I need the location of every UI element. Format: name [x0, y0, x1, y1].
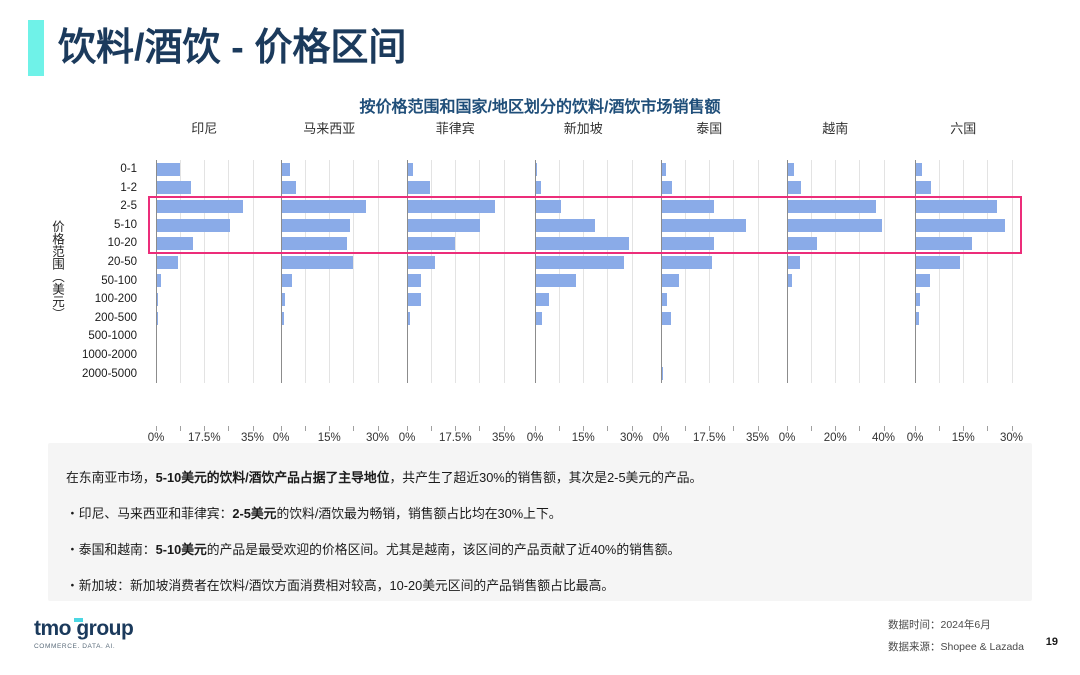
bar-row: [407, 234, 508, 253]
bar[interactable]: [157, 312, 158, 325]
bar-row: [661, 365, 762, 384]
plot-region: [156, 160, 257, 383]
y-axis-tick-label: 0-1: [64, 160, 144, 179]
bar-row: [787, 253, 888, 272]
bar-row: [535, 216, 636, 235]
x-tick-mark: [963, 426, 964, 431]
bar-row: [535, 253, 636, 272]
bar[interactable]: [536, 181, 541, 194]
bar[interactable]: [408, 256, 435, 269]
bar-row: [787, 197, 888, 216]
x-tick-mark: [884, 426, 885, 431]
bar[interactable]: [536, 274, 576, 287]
data-source: 数据来源：Shopee & Lazada: [888, 636, 1024, 658]
bar-row: [407, 365, 508, 384]
bar-row: [535, 234, 636, 253]
chart-panel-菲律宾: 0%17.5%35%: [407, 160, 508, 383]
bar[interactable]: [536, 163, 537, 176]
insight-1-c: 的饮料/酒饮最为畅销，销售额占比均在30%上下。: [276, 506, 561, 521]
x-tick-mark: [253, 426, 254, 431]
bar-row: [915, 216, 1016, 235]
panel-header-5: 泰国: [641, 118, 778, 137]
chart-panel-泰国: 0%17.5%35%: [661, 160, 762, 383]
bar-row: [661, 179, 762, 198]
x-tick-mark: [407, 426, 408, 431]
bar-row: [156, 346, 257, 365]
bar-row: [407, 346, 508, 365]
bar-row: [281, 216, 382, 235]
data-time: 数据时间：2024年6月: [888, 614, 1024, 636]
bar-row: [661, 290, 762, 309]
bar-row: [915, 253, 1016, 272]
bar[interactable]: [916, 181, 931, 194]
bar-row: [156, 234, 257, 253]
x-tick-mark: [156, 426, 157, 431]
chart-panel-印尼: 0%17.5%35%: [156, 160, 257, 383]
bar-row: [535, 179, 636, 198]
bar[interactable]: [157, 237, 193, 250]
bar[interactable]: [788, 256, 800, 269]
bar[interactable]: [788, 274, 792, 287]
bar-row: [535, 272, 636, 291]
chart-title: 按价格范围和国家/地区划分的饮料/酒饮市场销售额: [0, 93, 1080, 117]
x-tick-mark: [939, 426, 940, 431]
logo-tagline: COMMERCE. DATA. AI.: [34, 643, 133, 650]
bar-row: [661, 197, 762, 216]
bar-row: [156, 160, 257, 179]
bar[interactable]: [157, 274, 161, 287]
bar-row: [407, 327, 508, 346]
x-tick-mark: [811, 426, 812, 431]
title-accent-bar: [28, 20, 44, 76]
panel-header-row: 印尼马来西亚菲律宾新加坡泰国越南六国: [0, 118, 1080, 142]
bar-row: [156, 253, 257, 272]
bar[interactable]: [157, 163, 180, 176]
bar-row: [915, 327, 1016, 346]
insight-line-0: 在东南亚市场，5-10美元的饮料/酒饮产品占据了主导地位，共产生了超近30%的销…: [66, 469, 702, 487]
y-axis-tick-label: 50-100: [64, 272, 144, 291]
x-tick-mark: [987, 426, 988, 431]
logo-text-group: group: [76, 617, 133, 640]
insight-line-3: ・新加坡：新加坡消费者在饮料/酒饮方面消费相对较高，10-20美元区间的产品销售…: [66, 577, 614, 595]
bar-row: [281, 327, 382, 346]
insight-1-a: ・印尼、马来西亚和菲律宾：: [66, 506, 232, 521]
bar-row: [915, 160, 1016, 179]
chart-panel-马来西亚: 0%15%30%: [281, 160, 382, 383]
bar-row: [915, 365, 1016, 384]
y-axis-tick-label: 1-2: [64, 179, 144, 198]
bar[interactable]: [408, 274, 421, 287]
plot-region: [915, 160, 1016, 383]
bar-row: [535, 309, 636, 328]
x-tick-mark: [281, 426, 282, 431]
insight-line-1: ・印尼、马来西亚和菲律宾：2-5美元的饮料/酒饮最为畅销，销售额占比均在30%上…: [66, 505, 562, 523]
bar[interactable]: [916, 293, 920, 306]
bar-row: [407, 179, 508, 198]
x-tick-mark: [583, 426, 584, 431]
panel-header-4: 新加坡: [515, 118, 652, 137]
y-axis-tick-label: 500-1000: [64, 327, 144, 346]
bar-row: [787, 309, 888, 328]
bar[interactable]: [157, 200, 243, 213]
bar[interactable]: [408, 219, 480, 232]
plot-region: [281, 160, 382, 383]
y-axis-tick-label: 200-500: [64, 309, 144, 328]
bar-row: [787, 160, 888, 179]
insight-2-c: 的产品是最受欢迎的价格区间。尤其是越南，该区间的产品贡献了近40%的销售额。: [207, 542, 681, 557]
insight-2-a: ・泰国和越南：: [66, 542, 156, 557]
bar[interactable]: [788, 200, 876, 213]
bar-row: [661, 309, 762, 328]
x-tick-mark: [787, 426, 788, 431]
bar[interactable]: [282, 256, 353, 269]
bar[interactable]: [282, 274, 292, 287]
bar-row: [661, 272, 762, 291]
x-tick-mark: [835, 426, 836, 431]
bar[interactable]: [408, 181, 430, 194]
bar-row: [407, 160, 508, 179]
bar-row: [156, 272, 257, 291]
bar-row: [156, 290, 257, 309]
bar[interactable]: [662, 312, 671, 325]
panel-header-7: 六国: [895, 118, 1032, 137]
logo-accent-dot: [74, 618, 83, 622]
bar[interactable]: [788, 163, 794, 176]
bar[interactable]: [536, 256, 624, 269]
bar-row: [787, 216, 888, 235]
bar[interactable]: [408, 237, 455, 250]
bar-row: [915, 272, 1016, 291]
page-number: 19: [1046, 636, 1058, 648]
y-axis-label: 价格范围（美元）: [48, 220, 64, 320]
bar-row: [407, 290, 508, 309]
insights-panel: 在东南亚市场，5-10美元的饮料/酒饮产品占据了主导地位，共产生了超近30%的销…: [48, 443, 1032, 601]
bar[interactable]: [916, 237, 972, 250]
bar[interactable]: [157, 181, 191, 194]
plot-region: [787, 160, 888, 383]
bar[interactable]: [536, 219, 595, 232]
bar-row: [787, 365, 888, 384]
y-axis-tick-label: 1000-2000: [64, 346, 144, 365]
title-row: 饮料/酒饮 - 价格区间: [28, 20, 406, 76]
bar-row: [915, 346, 1016, 365]
x-tick-mark: [632, 426, 633, 431]
bar[interactable]: [408, 200, 495, 213]
bar[interactable]: [916, 256, 960, 269]
bar[interactable]: [282, 237, 347, 250]
insight-1-b: 2-5美元: [232, 506, 276, 521]
x-tick-mark: [504, 426, 505, 431]
bar-row: [661, 216, 762, 235]
bar-row: [281, 179, 382, 198]
chart-area: 价格范围（美元） 0-11-22-55-1010-2020-5050-10010…: [0, 118, 1080, 418]
bar[interactable]: [916, 219, 1005, 232]
y-axis-category-list: 0-11-22-55-1010-2020-5050-100100-200200-…: [64, 160, 144, 383]
bar[interactable]: [282, 219, 350, 232]
x-tick-mark: [733, 426, 734, 431]
bar-row: [535, 365, 636, 384]
bar-row: [787, 327, 888, 346]
bar-row: [281, 346, 382, 365]
bar[interactable]: [536, 200, 561, 213]
bar[interactable]: [157, 219, 230, 232]
plot-region: [661, 160, 762, 383]
bar[interactable]: [662, 293, 667, 306]
bar-row: [156, 197, 257, 216]
chart-panel-六国: 0%15%30%: [915, 160, 1016, 383]
y-axis-tick-label: 2-5: [64, 197, 144, 216]
bar-row: [535, 327, 636, 346]
x-tick-mark: [378, 426, 379, 431]
panel-header-6: 越南: [767, 118, 904, 137]
insight-2-b: 5-10美元: [156, 542, 207, 557]
bar-row: [787, 272, 888, 291]
x-tick-mark: [1012, 426, 1013, 431]
tmo-group-logo: tmo group COMMERCE. DATA. AI.: [34, 617, 133, 650]
slide: 饮料/酒饮 - 价格区间 按价格范围和国家/地区划分的饮料/酒饮市场销售额 价格…: [0, 0, 1080, 675]
bar[interactable]: [282, 181, 296, 194]
x-tick-mark: [329, 426, 330, 431]
bar-row: [156, 216, 257, 235]
bar-row: [535, 197, 636, 216]
bar-row: [407, 309, 508, 328]
bar-row: [915, 234, 1016, 253]
bar-row: [915, 290, 1016, 309]
logo-text: tmo: [34, 617, 71, 640]
x-tick-mark: [228, 426, 229, 431]
plot-region: [535, 160, 636, 383]
x-tick-mark: [685, 426, 686, 431]
x-tick-mark: [204, 426, 205, 431]
y-axis-tick-label: 5-10: [64, 216, 144, 235]
bar-row: [407, 197, 508, 216]
panel-header-2: 马来西亚: [261, 118, 398, 137]
bar[interactable]: [662, 181, 672, 194]
bar[interactable]: [788, 237, 817, 250]
bar[interactable]: [788, 219, 882, 232]
x-tick-mark: [709, 426, 710, 431]
bar-row: [787, 179, 888, 198]
bar-row: [156, 309, 257, 328]
bar[interactable]: [536, 293, 549, 306]
bar[interactable]: [662, 274, 679, 287]
y-axis-tick-label: 2000-5000: [64, 365, 144, 384]
bar-row: [407, 216, 508, 235]
x-tick-mark: [915, 426, 916, 431]
bar-row: [535, 290, 636, 309]
bar[interactable]: [536, 237, 629, 250]
panel-header-1: 印尼: [136, 118, 273, 137]
bar[interactable]: [662, 237, 714, 250]
bar[interactable]: [536, 312, 542, 325]
bar[interactable]: [157, 256, 178, 269]
bar[interactable]: [916, 274, 930, 287]
bar-row: [915, 197, 1016, 216]
x-tick-mark: [431, 426, 432, 431]
bar[interactable]: [282, 200, 366, 213]
x-tick-mark: [859, 426, 860, 431]
bar[interactable]: [788, 181, 801, 194]
bar-row: [661, 234, 762, 253]
insight-0-a: 在东南亚市场，: [66, 470, 156, 485]
y-axis-tick-label: 10-20: [64, 234, 144, 253]
y-axis-tick-label: 20-50: [64, 253, 144, 272]
y-axis-tick-label: 100-200: [64, 290, 144, 309]
insight-0-b: 5-10美元的饮料/酒饮产品占据了主导地位: [156, 470, 390, 485]
bar[interactable]: [662, 200, 714, 213]
x-tick-mark: [758, 426, 759, 431]
bar[interactable]: [916, 163, 922, 176]
panel-header-3: 菲律宾: [387, 118, 524, 137]
x-tick-mark: [305, 426, 306, 431]
bar[interactable]: [662, 163, 666, 176]
x-tick-mark: [535, 426, 536, 431]
bar[interactable]: [157, 293, 158, 306]
bar-row: [281, 253, 382, 272]
page-title: 饮料/酒饮 - 价格区间: [58, 20, 406, 76]
chart-panel-新加坡: 0%15%30%: [535, 160, 636, 383]
bar[interactable]: [408, 312, 410, 325]
x-tick-mark: [180, 426, 181, 431]
bar-row: [787, 234, 888, 253]
bar-row: [661, 253, 762, 272]
chart-panel-越南: 0%20%40%: [787, 160, 888, 383]
bar-row: [156, 327, 257, 346]
x-tick-mark: [479, 426, 480, 431]
bar-row: [661, 160, 762, 179]
bar[interactable]: [662, 367, 663, 380]
x-tick-mark: [353, 426, 354, 431]
bar[interactable]: [662, 256, 712, 269]
bar-row: [156, 365, 257, 384]
x-tick-mark: [607, 426, 608, 431]
bar-row: [281, 234, 382, 253]
bar-row: [535, 346, 636, 365]
bar-row: [281, 197, 382, 216]
bar[interactable]: [282, 312, 284, 325]
bar-row: [281, 309, 382, 328]
bar-row: [661, 346, 762, 365]
bar[interactable]: [408, 293, 421, 306]
bar[interactable]: [916, 200, 997, 213]
x-tick-mark: [455, 426, 456, 431]
footer-meta: 数据时间：2024年6月 数据来源：Shopee & Lazada: [888, 614, 1024, 658]
bar-row: [281, 365, 382, 384]
bar-row: [915, 309, 1016, 328]
bar[interactable]: [916, 312, 919, 325]
bar-row: [661, 327, 762, 346]
bar[interactable]: [662, 219, 746, 232]
bar[interactable]: [408, 163, 413, 176]
bar-row: [281, 160, 382, 179]
insight-line-2: ・泰国和越南：5-10美元的产品是最受欢迎的价格区间。尤其是越南，该区间的产品贡…: [66, 541, 680, 559]
bar-row: [281, 290, 382, 309]
bar[interactable]: [282, 293, 285, 306]
bar-row: [156, 179, 257, 198]
plot-region: [407, 160, 508, 383]
bar-row: [787, 346, 888, 365]
bar-row: [915, 179, 1016, 198]
x-tick-mark: [661, 426, 662, 431]
bar-row: [535, 160, 636, 179]
x-tick-mark: [559, 426, 560, 431]
insight-0-c: ，共产生了超近30%的销售额，其次是2-5美元的产品。: [390, 470, 703, 485]
bar[interactable]: [282, 163, 290, 176]
bar-row: [407, 253, 508, 272]
bar-row: [407, 272, 508, 291]
bar-row: [281, 272, 382, 291]
bar-row: [787, 290, 888, 309]
